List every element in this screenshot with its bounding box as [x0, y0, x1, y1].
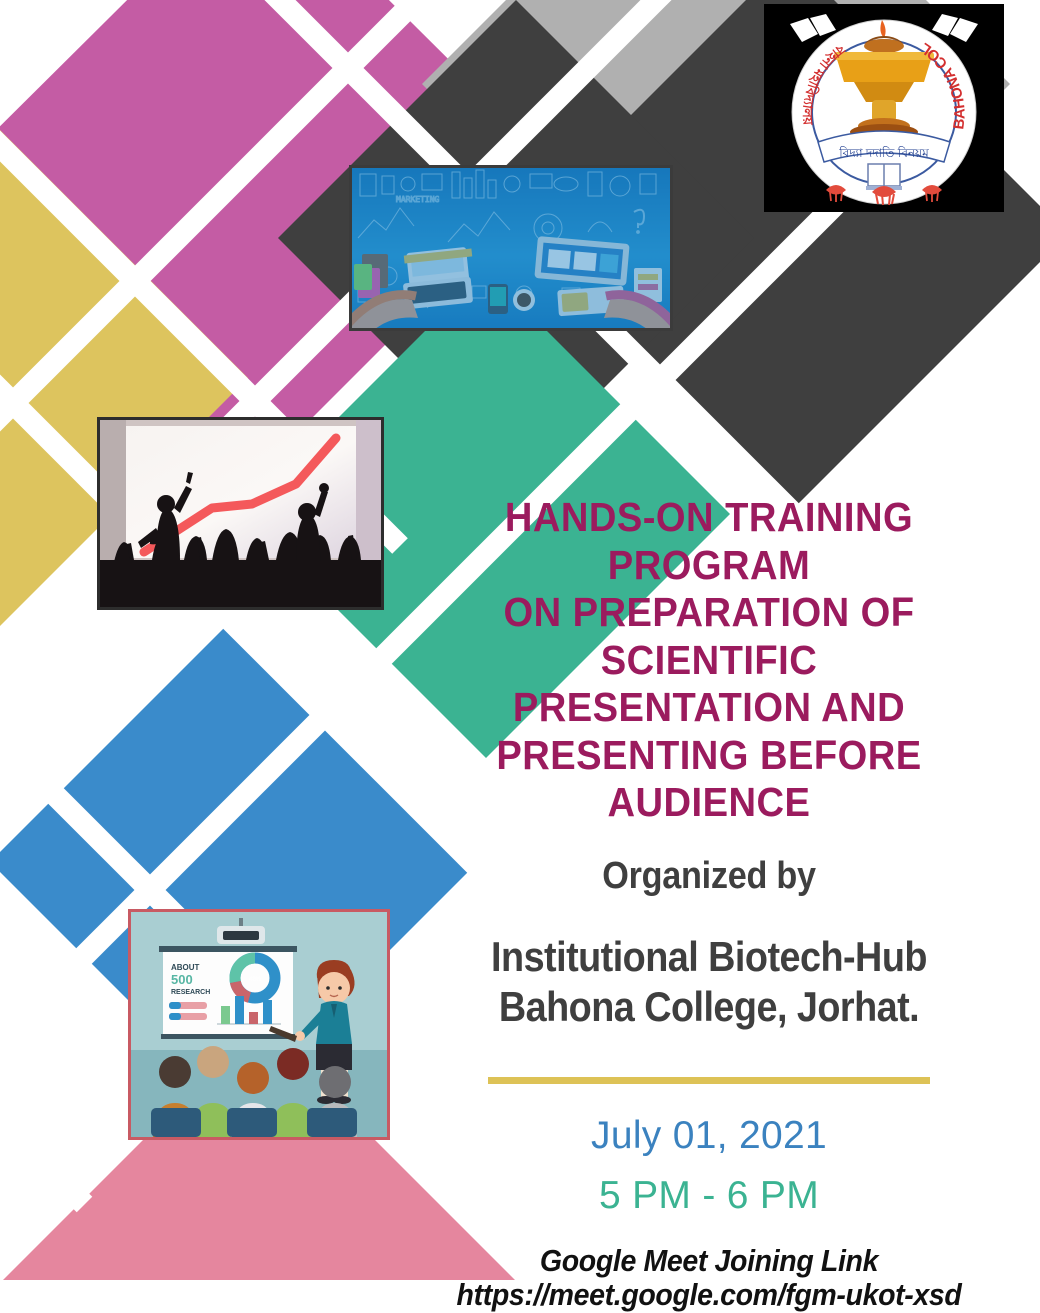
title-line-1: HANDS-ON TRAINING PROGRAM [401, 494, 1017, 589]
slide-number: 500 [171, 972, 193, 987]
tech-doodle-layer: MARKETING 16q+7x [352, 168, 670, 328]
title-line-3: PRESENTATION AND PRESENTING BEFORE [401, 684, 1017, 779]
gold-divider [488, 1077, 930, 1084]
organizer-line-1: Institutional Biotech-Hub [411, 932, 1007, 982]
presentation-illustration-photo: ABOUT 500 RESEARCH 48% [131, 912, 387, 1137]
screen-bar [159, 946, 297, 952]
google-meet-link[interactable]: https://meet.google.com/fgm-ukot-xsd [404, 1278, 1013, 1313]
poster-title: HANDS-ON TRAINING PROGRAM ON PREPARATION… [401, 494, 1017, 827]
event-date: July 01, 2021 [378, 1114, 1040, 1158]
slide-heading: ABOUT [171, 963, 200, 972]
crowd-illustration [100, 420, 381, 607]
college-logo: বিদ্যা দদাতি বিনয়ম BAHONA COLLEGE বাহনা… [764, 4, 1004, 212]
donut-label: 48% [249, 977, 262, 983]
svg-text:MARKETING: MARKETING [396, 195, 440, 204]
title-line-4: AUDIENCE [401, 779, 1017, 827]
organizer-name: Institutional Biotech-Hub Bahona College… [411, 932, 1007, 1033]
laptop-icon [403, 247, 473, 310]
bahona-college-emblem: বিদ্যা দদাতি বিনয়ম BAHONA COLLEGE বাহনা… [764, 4, 1004, 212]
google-meet-block: Google Meet Joining Link https://meet.go… [404, 1244, 1013, 1313]
slide-subheading: RESEARCH [171, 989, 210, 996]
motto-text: বিদ্যা দদাতি বিনয়ম [838, 146, 929, 160]
monitor-icon [534, 236, 629, 286]
event-time: 5 PM - 6 PM [378, 1174, 1040, 1218]
organized-by-label: Organized by [411, 855, 1007, 898]
organizer-line-2: Bahona College, Jorhat. [411, 982, 1007, 1032]
poster-text-column: HANDS-ON TRAINING PROGRAM ON PREPARATION… [378, 494, 1040, 1313]
crowd-growth-chart-photo [100, 420, 381, 607]
tech-desk-photo: MARKETING 16q+7x [352, 168, 670, 328]
title-line-2: ON PREPARATION OF SCIENTIFIC [401, 589, 1017, 684]
presenter-audience-illustration: ABOUT 500 RESEARCH 48% [131, 912, 387, 1137]
google-meet-label: Google Meet Joining Link [540, 1243, 878, 1278]
